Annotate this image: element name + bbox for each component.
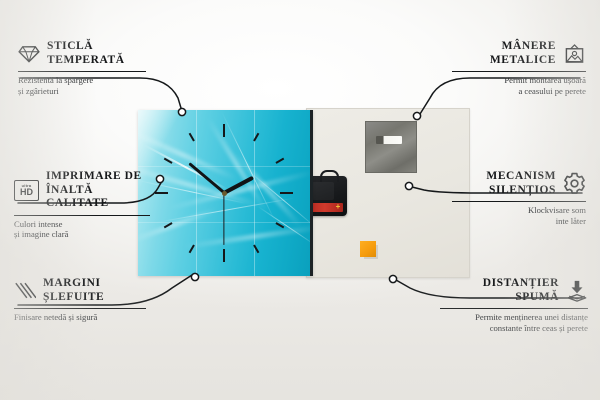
- clock-mechanism: +: [307, 176, 347, 216]
- metal-hanger-plate: [365, 121, 417, 173]
- gear-icon: [563, 172, 586, 195]
- mechanism-body: [312, 182, 334, 200]
- mechanism-hook: [320, 170, 339, 182]
- callout-divider: [14, 215, 150, 216]
- product-image: +: [138, 108, 468, 278]
- callout-metal-handles: MÂNERE METALICE Permit montarea ușoară a…: [452, 40, 586, 96]
- callout-divider: [452, 71, 586, 72]
- battery-plus-icon: +: [335, 204, 341, 210]
- callout-divider: [14, 308, 146, 309]
- callout-subtitle: Permite menținerea unei distanțe constan…: [440, 312, 588, 333]
- clock-center-hub: [222, 191, 227, 196]
- callout-subtitle: Permit montarea ușoară a ceasului pe per…: [452, 75, 586, 96]
- callout-subtitle: Culori intense și imagine clară: [14, 219, 150, 240]
- callout-divider: [18, 71, 146, 72]
- callout-title: MECANISM SILENȚIOS: [486, 170, 556, 197]
- polished-edges-icon: [14, 281, 36, 300]
- callout-title: STICLĂ TEMPERATĂ: [47, 40, 125, 67]
- callout-subtitle: Finisare netedă și sigură: [14, 312, 146, 323]
- callout-silent-mechanism: MECANISM SILENȚIOS Klockvisare som inte …: [452, 170, 586, 226]
- callout-high-quality-print: ultra HD IMPRIMARE DE ÎNALTĂ CALITATE Cu…: [14, 170, 150, 240]
- foam-spacer-icon: [566, 280, 588, 302]
- clock-front-glass: [138, 110, 313, 276]
- hanger-slot: [376, 136, 402, 144]
- picture-hanger-icon: [563, 44, 586, 64]
- callout-title: MÂNERE METALICE: [490, 40, 556, 67]
- battery: +: [310, 203, 343, 212]
- infographic-canvas: +: [0, 0, 600, 400]
- ultra-hd-main-label: HD: [20, 188, 33, 197]
- callout-subtitle: Klockvisare som inte låter: [452, 205, 586, 226]
- callout-foam-spacer: DISTANȚIER SPUMĂ Permite menținerea unei…: [440, 277, 588, 333]
- ultra-hd-icon: ultra HD: [14, 180, 39, 201]
- clock-dial: [138, 110, 310, 276]
- foam-spacer-pad: [360, 241, 376, 257]
- callout-subtitle: Rezistentă la spargere și zgârieturi: [18, 75, 146, 96]
- clock-second-hand: [223, 193, 224, 245]
- callout-divider: [452, 201, 586, 202]
- callout-polished-edges: MARGINI ȘLEFUITE Finisare netedă și sigu…: [14, 277, 146, 323]
- diamond-icon: [18, 45, 40, 63]
- callout-title: IMPRIMARE DE ÎNALTĂ CALITATE: [46, 170, 150, 211]
- callout-title: MARGINI ȘLEFUITE: [43, 277, 104, 304]
- callout-title: DISTANȚIER SPUMĂ: [483, 277, 559, 304]
- clock-minute-hand: [188, 162, 225, 194]
- callout-tempered-glass: STICLĂ TEMPERATĂ Rezistentă la spargere …: [18, 40, 146, 96]
- callout-divider: [440, 308, 588, 309]
- clock-hour-hand: [223, 176, 254, 195]
